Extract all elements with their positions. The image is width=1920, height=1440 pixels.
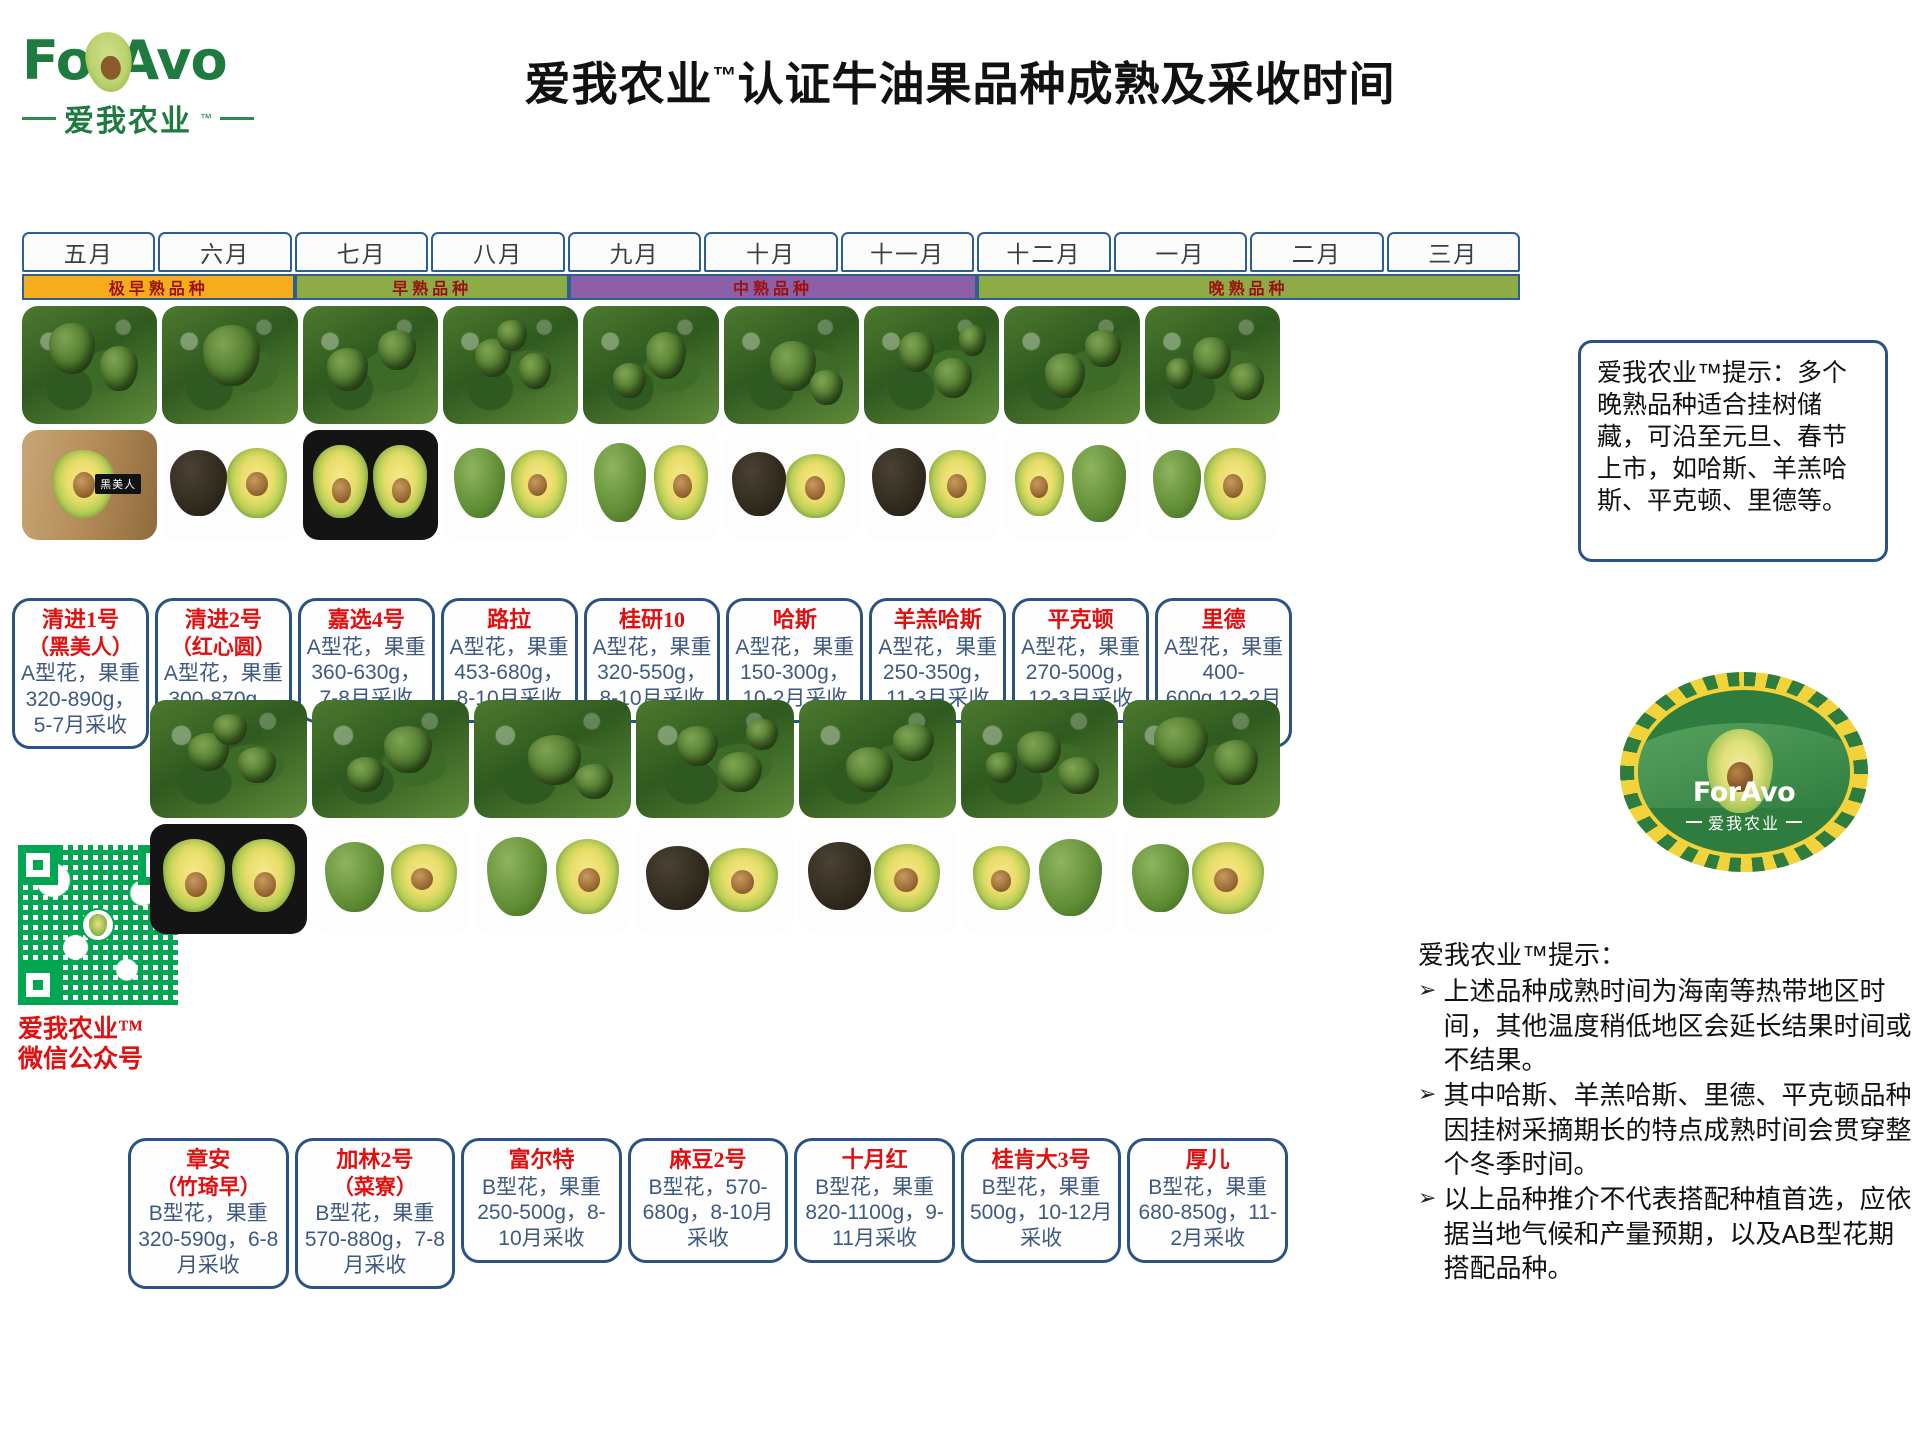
avocado-fruit-icon bbox=[934, 358, 972, 398]
tree-photo-row-a bbox=[22, 306, 1280, 424]
variety-alias: （菜寮） bbox=[302, 1175, 449, 1201]
month-cell: 六月 bbox=[158, 232, 291, 272]
cut-photo-8 bbox=[1004, 430, 1139, 540]
tree-photo-b5 bbox=[799, 700, 956, 818]
avocado-fruit-icon bbox=[986, 752, 1017, 783]
variety-name: 厚儿 bbox=[1134, 1147, 1281, 1174]
tree-photo-5 bbox=[583, 306, 718, 424]
infographic-root: ForAvo 爱我农业 ™ 爱我农业™认证牛油果品种成熟及采收时间 五月六月七月… bbox=[0, 0, 1920, 1440]
avocado-pit-icon bbox=[99, 55, 122, 82]
variety-name: 麻豆2号 bbox=[635, 1147, 782, 1174]
whole-avocado-icon bbox=[325, 842, 385, 912]
cut-photo-b7 bbox=[1123, 824, 1280, 934]
variety-name: 里德 bbox=[1162, 607, 1285, 634]
avocado-fruit-icon bbox=[213, 714, 248, 745]
tree-photo-row-b bbox=[150, 700, 1280, 818]
month-cell: 十二月 bbox=[977, 232, 1110, 272]
avocado-pit-icon bbox=[246, 472, 268, 496]
maturity-band: 早熟品种 bbox=[295, 274, 568, 300]
chevron-right-icon: ➢ bbox=[1418, 974, 1436, 1006]
avocado-fruit-icon bbox=[100, 346, 138, 391]
avocado-pit-icon bbox=[185, 872, 207, 896]
avocado-fruit-icon bbox=[1154, 717, 1207, 769]
whole-avocado-icon bbox=[1153, 450, 1202, 518]
logo-subtitle-text: 爱我农业 bbox=[64, 96, 192, 140]
whole-avocado-icon bbox=[594, 443, 645, 522]
avocado-pit-icon bbox=[673, 474, 692, 498]
dark-avocado-icon bbox=[646, 846, 709, 910]
avocado-fruit-icon bbox=[378, 330, 416, 370]
avocado-pit-icon bbox=[1214, 868, 1238, 892]
chevron-right-icon: ➢ bbox=[1418, 1182, 1436, 1214]
variety-card[interactable]: 富尔特B型花，果重250-500g，8-10月采收 bbox=[461, 1138, 622, 1263]
tip-item: ➢以上品种推介不代表搭配种植首选，应依据当地气候和产量预期，以及AB型花期搭配品… bbox=[1418, 1182, 1914, 1285]
avocado-fruit-icon bbox=[327, 348, 368, 390]
variety-card[interactable]: 章安（竹琦早）B型花，果重320-590g，6-8月采收 bbox=[128, 1138, 289, 1289]
avocado-pit-icon bbox=[411, 868, 433, 890]
variety-name: 嘉选4号 bbox=[305, 607, 428, 634]
whole-avocado-icon bbox=[1132, 844, 1189, 912]
variety-card[interactable]: 十月红B型花，果重820-1100g，9-11月采收 bbox=[794, 1138, 955, 1263]
month-cell: 三月 bbox=[1387, 232, 1520, 272]
variety-name: 清进2号 bbox=[162, 607, 285, 634]
tree-photo-8 bbox=[1004, 306, 1139, 424]
avocado-fruit-icon bbox=[959, 325, 986, 356]
tree-photo-6 bbox=[724, 306, 859, 424]
tip-text: 以上品种推介不代表搭配种植首选，应依据当地气候和产量预期，以及AB型花期搭配品种… bbox=[1443, 1182, 1914, 1285]
logo-rule-right bbox=[220, 117, 254, 120]
variety-description: B型花，果重250-500g，8-10月采收 bbox=[468, 1175, 615, 1252]
avocado-fruit-icon bbox=[1166, 358, 1193, 389]
variety-name: 加林2号 bbox=[302, 1147, 449, 1174]
avocado-fruit-icon bbox=[384, 726, 431, 773]
logo-wordmark: ForAvo bbox=[22, 28, 292, 94]
tree-photo-b3 bbox=[474, 700, 631, 818]
logo-subtitle: 爱我农业 ™ bbox=[22, 96, 292, 140]
variety-description: A型花，果重320-890g，5-7月采收 bbox=[19, 661, 142, 738]
dark-avocado-icon bbox=[872, 448, 926, 516]
tree-photo-b4 bbox=[636, 700, 793, 818]
tip-item: ➢其中哈斯、羊羔哈斯、里德、平克顿品种因挂树采摘期长的特点成熟时间会贯穿整个冬季… bbox=[1418, 1078, 1914, 1181]
whole-avocado-icon bbox=[487, 837, 547, 916]
avocado-fruit-icon bbox=[1045, 353, 1086, 398]
cut-photo-9 bbox=[1145, 430, 1280, 540]
maturity-band: 极早熟品种 bbox=[22, 274, 295, 300]
tree-photo-3 bbox=[303, 306, 438, 424]
avocado-fruit-icon bbox=[718, 752, 762, 792]
cut-photo-1: 黑美人 bbox=[22, 430, 157, 540]
avocado-fruit-icon bbox=[1229, 363, 1264, 401]
avocado-fruit-icon bbox=[1214, 740, 1258, 785]
avocado-fruit-icon bbox=[677, 726, 718, 766]
avocado-fruit-icon bbox=[203, 325, 260, 386]
dark-avocado-icon bbox=[732, 452, 786, 516]
tip-bubble-text: 爱我农业™提示：多个晚熟品种适合挂树储藏，可沿至元旦、春节上市，如哈斯、羊羔哈斯… bbox=[1597, 359, 1847, 515]
page-title-rest: 认证牛油果品种成熟及采收时间 bbox=[738, 58, 1396, 110]
page-title: 爱我农业™认证牛油果品种成熟及采收时间 bbox=[400, 48, 1520, 114]
variety-description: B型花，果重680-850g，11-2月采收 bbox=[1134, 1175, 1281, 1252]
variety-description: B型花，果重570-880g，7-8月采收 bbox=[302, 1201, 449, 1278]
cut-photo-7 bbox=[864, 430, 999, 540]
logo-rule-left bbox=[22, 117, 56, 120]
variety-name: 桂肯大3号 bbox=[968, 1147, 1115, 1174]
tips-heading: 爱我农业™提示： bbox=[1418, 938, 1914, 972]
cut-photo-6 bbox=[724, 430, 859, 540]
tree-photo-2 bbox=[162, 306, 297, 424]
whole-avocado-icon bbox=[454, 448, 505, 518]
avocado-fruit-icon bbox=[575, 764, 613, 799]
cut-photo-b1 bbox=[150, 824, 307, 934]
cut-photo-b4 bbox=[636, 824, 793, 934]
tip-item: ➢上述品种成熟时间为海南等热带地区时间，其他温度稍低地区会延长结果时间或不结果。 bbox=[1418, 974, 1914, 1077]
tree-photo-7 bbox=[864, 306, 999, 424]
month-cell: 十月 bbox=[704, 232, 837, 272]
cut-photo-3 bbox=[303, 430, 438, 540]
variety-alias: （竹琦早） bbox=[135, 1175, 282, 1201]
cut-photo-b5 bbox=[799, 824, 956, 934]
month-cell: 九月 bbox=[568, 232, 701, 272]
maturity-band-row: 极早熟品种早熟品种中熟品种晚熟品种 bbox=[22, 274, 1520, 300]
month-cell: 八月 bbox=[431, 232, 564, 272]
tree-photo-b7 bbox=[1123, 700, 1280, 818]
cut-photo-b3 bbox=[474, 824, 631, 934]
tree-photo-b1 bbox=[150, 700, 307, 818]
qr-eye-top-left bbox=[18, 845, 58, 885]
avocado-fruit-icon bbox=[613, 363, 645, 398]
cut-photo-b6 bbox=[961, 824, 1118, 934]
qr-eye-bottom-left bbox=[18, 965, 58, 1005]
variety-alias: （黑美人） bbox=[19, 635, 142, 661]
variety-name: 羊羔哈斯 bbox=[876, 607, 999, 634]
qr-center-avocado-icon bbox=[81, 908, 115, 942]
avocado-pit-icon bbox=[991, 870, 1011, 892]
avocado-fruit-icon bbox=[1017, 731, 1061, 773]
variety-description: B型花，570-680g，8-10月采收 bbox=[635, 1175, 782, 1252]
tip-bubble: 爱我农业™提示：多个晚熟品种适合挂树储藏，可沿至元旦、春节上市，如哈斯、羊羔哈斯… bbox=[1578, 340, 1888, 562]
avocado-pit-icon bbox=[894, 868, 918, 892]
qr-label-line2: 微信公众号 bbox=[18, 1045, 183, 1075]
seal-inner-disc: ForAvo 爱我农业 bbox=[1634, 686, 1854, 858]
cut-photo-4 bbox=[443, 430, 578, 540]
avocado-fruit-icon bbox=[497, 320, 527, 351]
month-cell: 二月 bbox=[1250, 232, 1383, 272]
variety-name: 平克顿 bbox=[1019, 607, 1142, 634]
tip-text: 其中哈斯、羊羔哈斯、里德、平克顿品种因挂树采摘期长的特点成熟时间会贯穿整个冬季时… bbox=[1443, 1078, 1914, 1181]
avocado-fruit-icon bbox=[846, 747, 893, 792]
month-cell: 七月 bbox=[295, 232, 428, 272]
variety-description: B型花，果重320-590g，6-8月采收 bbox=[135, 1201, 282, 1278]
logo-tm-mark: ™ bbox=[200, 111, 212, 125]
whole-avocado-icon bbox=[1072, 445, 1126, 522]
seal-subtitle: 爱我农业 bbox=[1686, 810, 1802, 834]
avocado-pit-icon bbox=[578, 868, 600, 892]
avocado-fruit-icon bbox=[646, 332, 687, 379]
avocado-fruit-icon bbox=[1193, 337, 1231, 379]
avocado-fruit-icon bbox=[347, 757, 385, 792]
whole-avocado-icon bbox=[1039, 839, 1102, 916]
variety-card[interactable]: 麻豆2号B型花，570-680g，8-10月采收 bbox=[628, 1138, 789, 1263]
avocado-fruit-icon bbox=[49, 323, 95, 375]
month-cell: 五月 bbox=[22, 232, 155, 272]
variety-card[interactable]: 加林2号（菜寮）B型花，果重570-880g，7-8月采收 bbox=[295, 1138, 456, 1289]
cut-photo-2 bbox=[162, 430, 297, 540]
tree-photo-4 bbox=[443, 306, 578, 424]
variety-description: B型花，果重500g，10-12月采收 bbox=[968, 1175, 1115, 1252]
chevron-right-icon: ➢ bbox=[1418, 1078, 1436, 1110]
variety-name: 富尔特 bbox=[468, 1147, 615, 1174]
avocado-pit-icon bbox=[254, 872, 276, 896]
tips-list: ➢上述品种成熟时间为海南等热带地区时间，其他温度稍低地区会延长结果时间或不结果。… bbox=[1418, 974, 1914, 1285]
variety-card[interactable]: 桂肯大3号B型花，果重500g，10-12月采收 bbox=[961, 1138, 1122, 1263]
avocado-fruit-icon bbox=[810, 370, 842, 405]
avocado-fruit-icon bbox=[746, 719, 777, 750]
variety-name: 十月红 bbox=[801, 1147, 948, 1174]
variety-card[interactable]: 厚儿B型花，果重680-850g，11-2月采收 bbox=[1127, 1138, 1288, 1263]
qr-label: 爱我农业™ 微信公众号 bbox=[18, 1015, 183, 1075]
seal-wordmark: ForAvo bbox=[1693, 777, 1795, 808]
brand-logo: ForAvo 爱我农业 ™ bbox=[22, 28, 292, 138]
variety-alias: （红心圆） bbox=[162, 635, 285, 661]
cut-photo-row-b bbox=[150, 824, 1280, 934]
avocado-fruit-icon bbox=[528, 735, 581, 785]
avocado-fruit-icon bbox=[238, 747, 276, 782]
cut-photo-5 bbox=[583, 430, 718, 540]
avocado-fruit-icon bbox=[770, 341, 816, 391]
avocado-fruit-icon bbox=[893, 724, 934, 762]
variety-name: 桂研10 bbox=[591, 607, 714, 634]
variety-card[interactable]: 清进1号（黑美人）A型花，果重320-890g，5-7月采收 bbox=[12, 598, 149, 749]
tree-photo-b2 bbox=[312, 700, 469, 818]
variety-name: 章安 bbox=[135, 1147, 282, 1174]
avocado-pit-icon bbox=[73, 472, 95, 498]
variety-name: 清进1号 bbox=[19, 607, 142, 634]
maturity-band: 晚熟品种 bbox=[977, 274, 1520, 300]
qr-label-line1: 爱我农业™ bbox=[18, 1015, 183, 1045]
page-title-tm: ™ bbox=[713, 63, 738, 90]
month-cell: 十一月 bbox=[841, 232, 974, 272]
tree-photo-b6 bbox=[961, 700, 1118, 818]
tips-block: 爱我农业™提示： ➢上述品种成熟时间为海南等热带地区时间，其他温度稍低地区会延长… bbox=[1418, 938, 1914, 1286]
tip-text: 上述品种成熟时间为海南等热带地区时间，其他温度稍低地区会延长结果时间或不结果。 bbox=[1443, 974, 1914, 1077]
avocado-fruit-icon bbox=[899, 332, 934, 372]
avocado-pit-icon bbox=[392, 478, 411, 502]
avocado-pit-icon bbox=[1030, 476, 1048, 498]
avocado-fruit-icon bbox=[1058, 757, 1099, 795]
avocado-pit-icon bbox=[947, 474, 967, 498]
page-title-brand: 爱我农业 bbox=[525, 58, 713, 110]
month-cell: 一月 bbox=[1114, 232, 1247, 272]
certification-seal: ForAvo 爱我农业 bbox=[1620, 672, 1868, 872]
dark-avocado-icon bbox=[808, 842, 871, 910]
variety-name: 哈斯 bbox=[733, 607, 856, 634]
variety-card-row-b: 章安（竹琦早）B型花，果重320-590g，6-8月采收加林2号（菜寮）B型花，… bbox=[128, 1138, 1288, 1289]
variety-name: 路拉 bbox=[448, 607, 571, 634]
month-header-row: 五月六月七月八月九月十月十一月十二月一月二月三月 bbox=[22, 232, 1520, 272]
cut-photo-b2 bbox=[312, 824, 469, 934]
tree-photo-9 bbox=[1145, 306, 1280, 424]
maturity-band: 中熟品种 bbox=[569, 274, 977, 300]
avocado-pit-icon bbox=[332, 478, 351, 502]
avocado-fruit-icon bbox=[519, 353, 551, 388]
dark-avocado-icon bbox=[170, 450, 227, 516]
tree-photo-1 bbox=[22, 306, 157, 424]
cut-photo-row-a: 黑美人 bbox=[22, 430, 1280, 540]
avocado-fruit-icon bbox=[1085, 330, 1120, 368]
variety-description: B型花，果重820-1100g，9-11月采收 bbox=[801, 1175, 948, 1252]
black-beauty-label: 黑美人 bbox=[95, 474, 141, 494]
